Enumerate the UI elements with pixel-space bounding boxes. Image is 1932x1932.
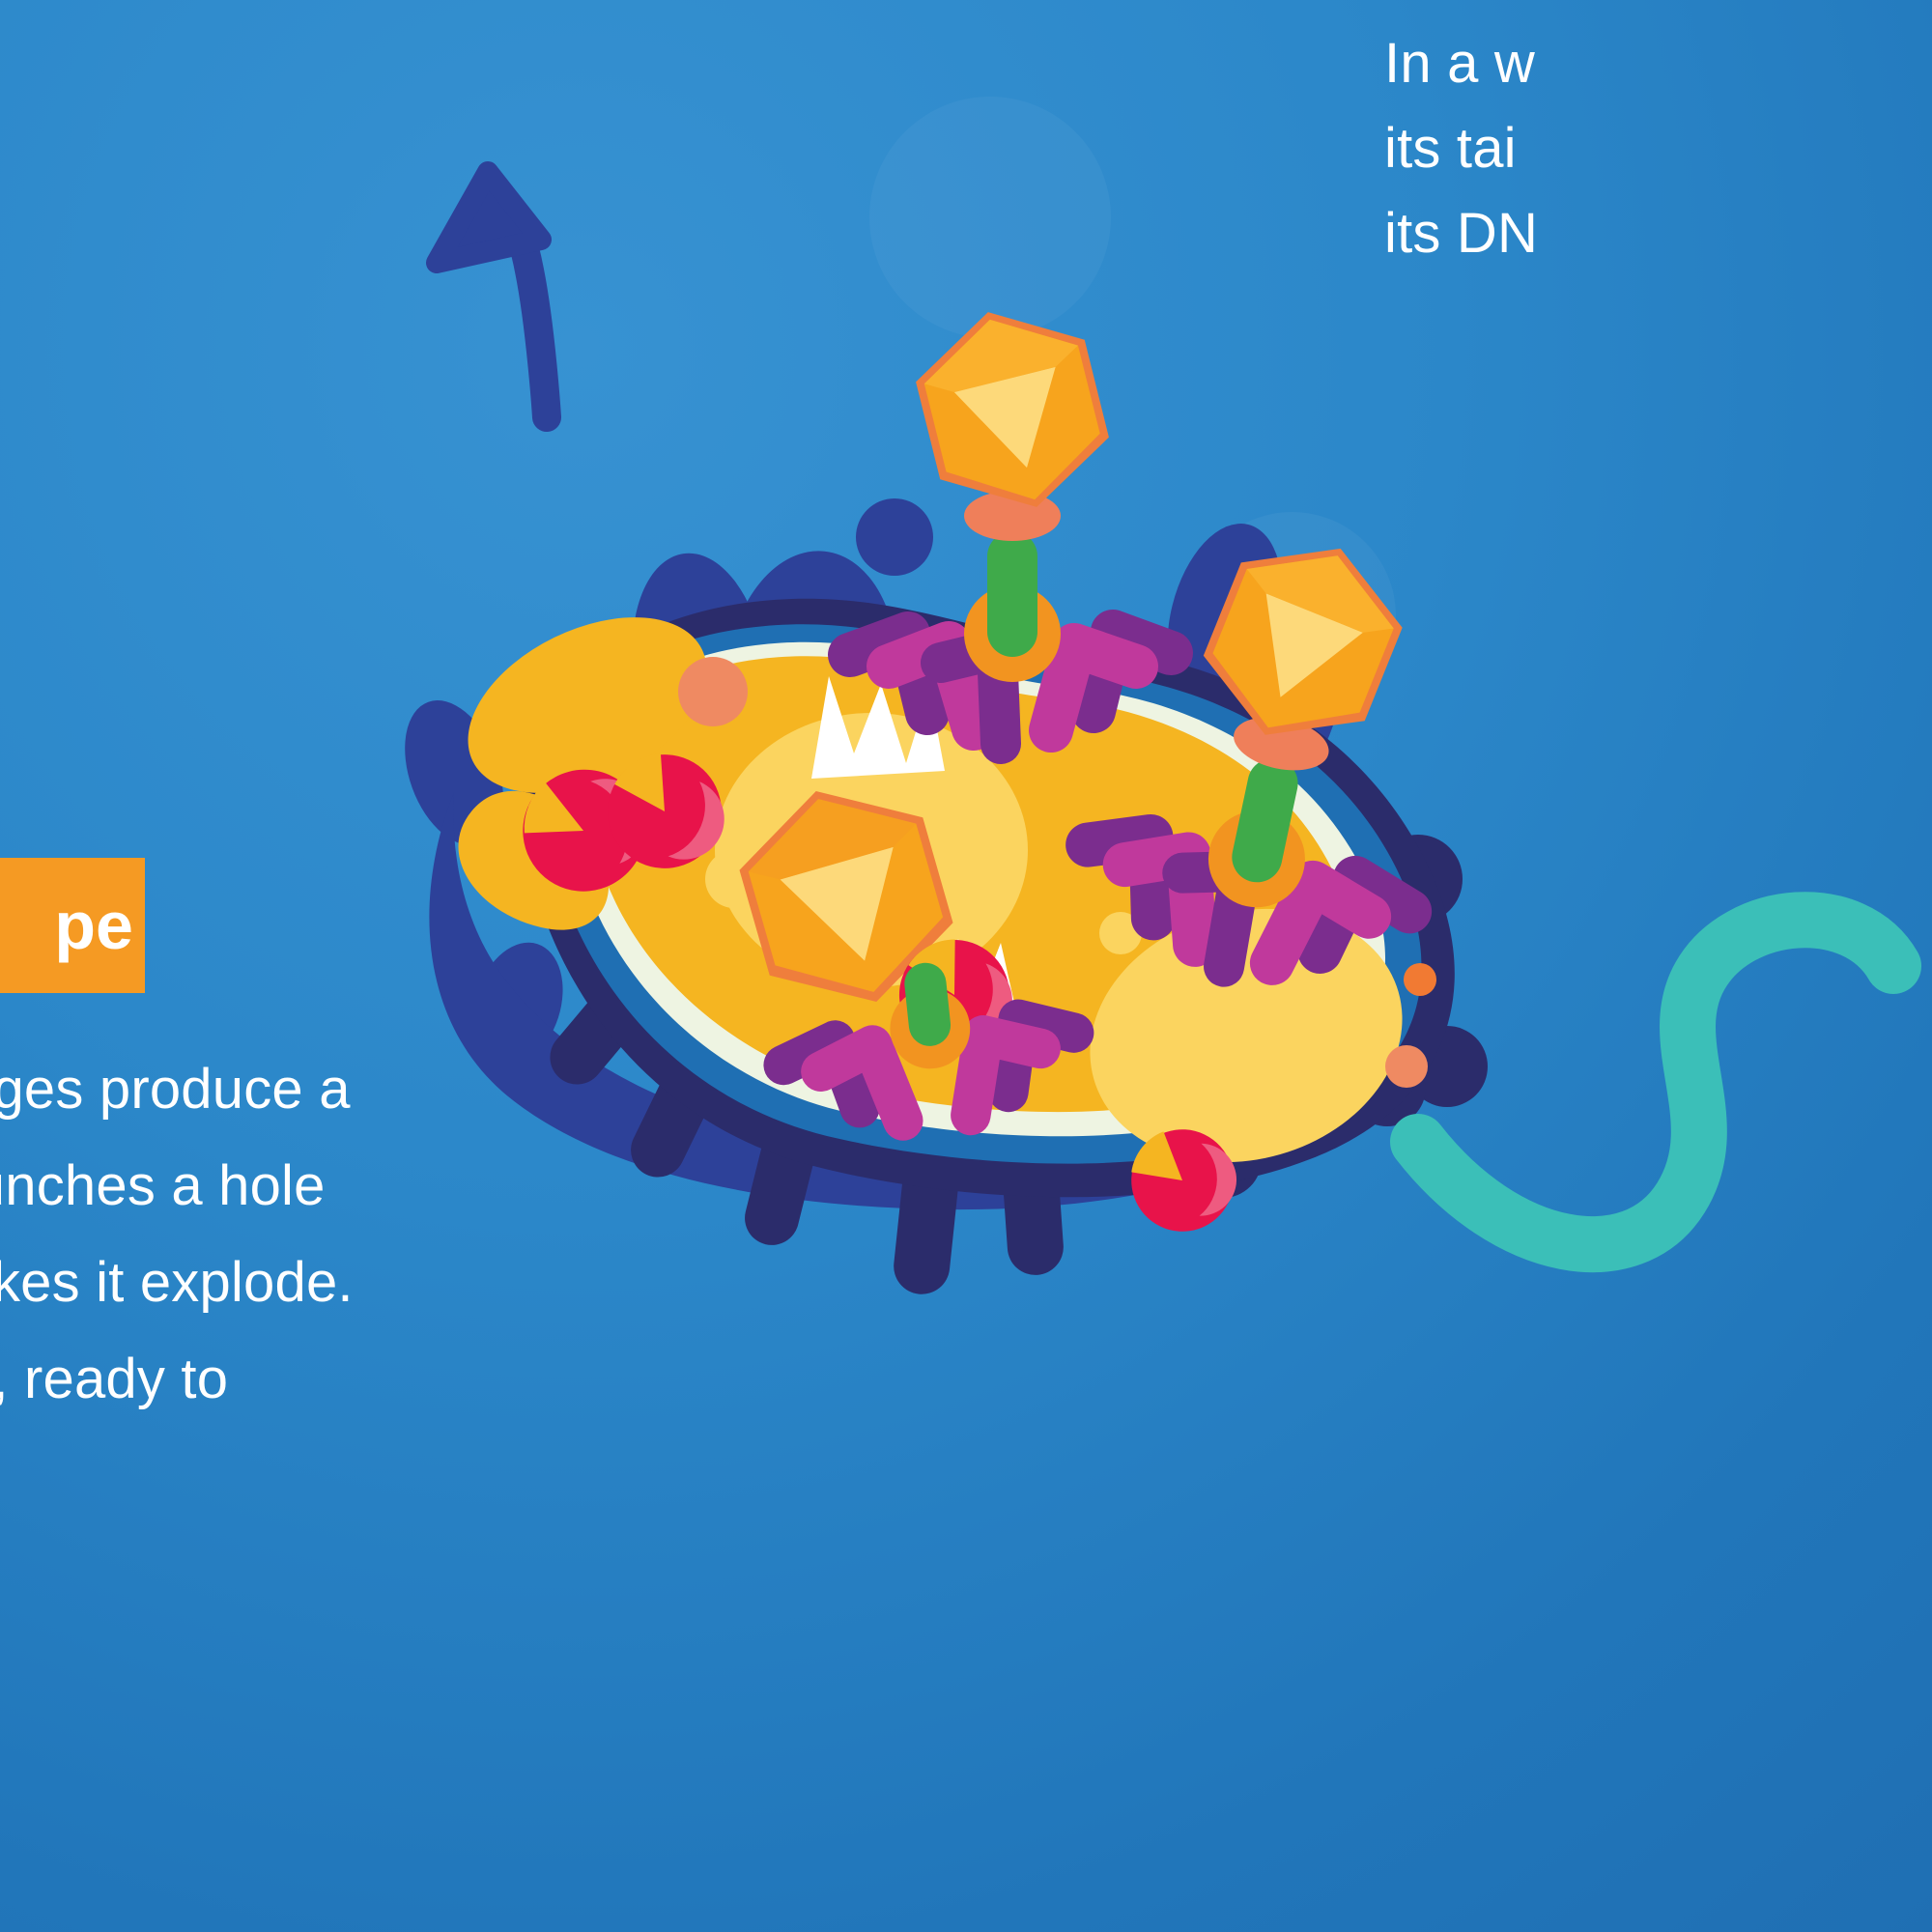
phage-baseplate <box>886 984 974 1072</box>
caption-left-body: ep, the phages produce a yme that punche… <box>0 1041 354 1524</box>
granule <box>1099 912 1142 954</box>
infographic-canvas: In a w its tai its DN hing to rface. pe … <box>0 0 1932 1932</box>
phage-legs <box>850 632 1171 744</box>
phage-tail <box>1228 753 1303 887</box>
phage-tail <box>902 961 952 1048</box>
arrow-up-icon <box>437 172 547 417</box>
bg-circle-small <box>473 966 531 1024</box>
phage-internal <box>724 765 968 1028</box>
splash-blobs-royal <box>386 498 1372 1209</box>
lysis-enzymes <box>501 743 1243 1238</box>
bacterium-inner-wall <box>545 624 1421 1163</box>
phage-head <box>904 291 1122 527</box>
caption-top-right: In a w its tai its DN <box>1384 21 1538 276</box>
phage-baseplate <box>1200 802 1315 917</box>
granule-orange <box>1385 1045 1428 1088</box>
phage-lower-left <box>775 948 1082 1134</box>
membrane-rupture <box>811 676 1014 1009</box>
phage-top <box>850 291 1171 744</box>
phage-legs <box>781 1013 1082 1134</box>
bg-circle-mid <box>1188 512 1396 720</box>
phage-baseplate <box>964 585 1061 682</box>
section-badge-label: pe <box>54 892 133 959</box>
bacterium-membrane <box>521 599 1488 1297</box>
bg-circle-top <box>869 97 1111 338</box>
phage-collar <box>1229 709 1334 779</box>
phage-head <box>1184 516 1421 767</box>
section-badge: pe <box>0 858 145 993</box>
phage-right <box>1069 496 1484 1003</box>
phage-collar <box>964 491 1061 541</box>
phage-legs <box>1069 822 1414 1002</box>
escaping-cytoplasm-droplet <box>440 582 735 829</box>
bacterium-cytoplasm <box>440 582 1436 1198</box>
phage-tail <box>987 531 1037 657</box>
granule-orange-small <box>1404 963 1436 996</box>
cytoplasm-dot <box>678 657 748 726</box>
nucleoid-zone-left <box>715 713 1028 987</box>
flagellum <box>1418 920 1893 1244</box>
illustration-root <box>0 0 1932 1932</box>
granule <box>705 850 763 908</box>
nucleoid-zone-right <box>1060 873 1433 1198</box>
